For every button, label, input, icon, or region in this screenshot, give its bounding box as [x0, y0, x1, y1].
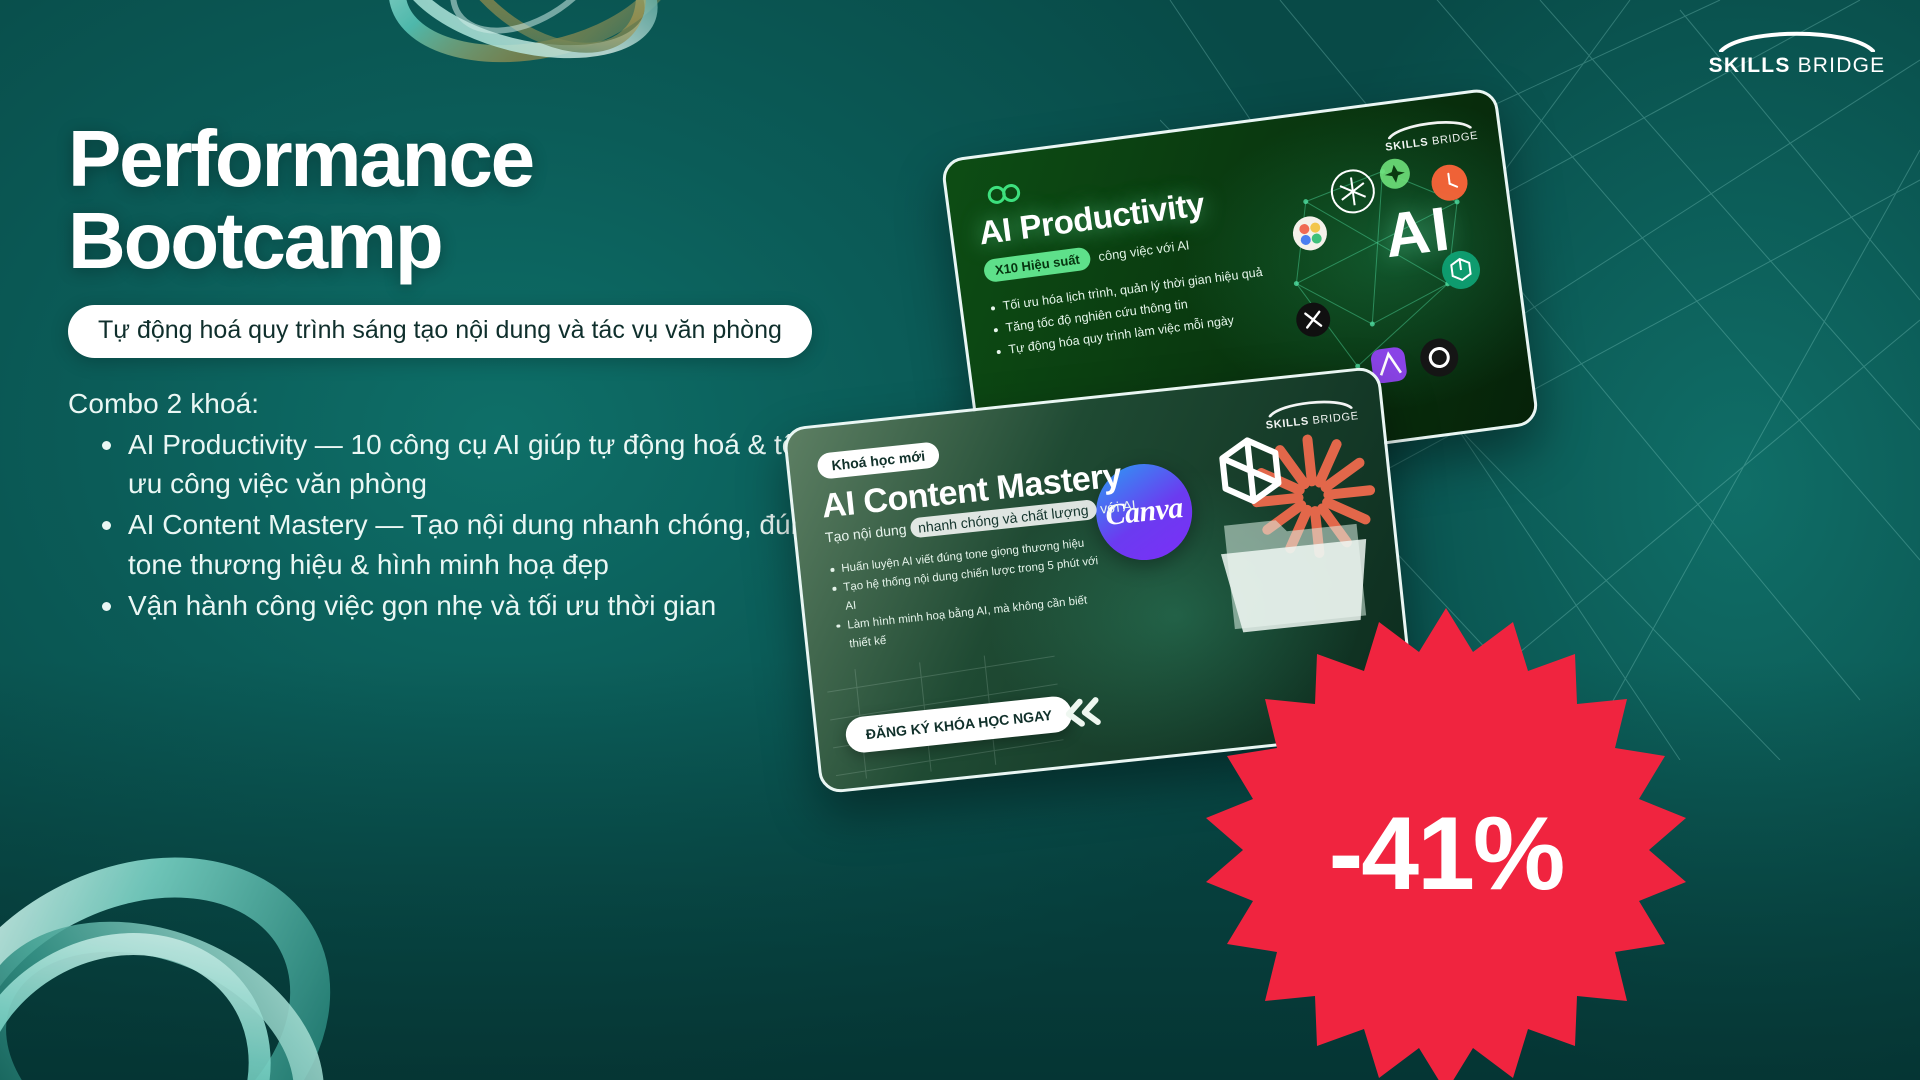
card-subtitle-suffix: với AI	[1099, 497, 1136, 517]
brand-logo: SKILLS BRIDGE	[1708, 26, 1886, 78]
glass-torus-top-decoration	[330, 0, 750, 130]
list-item: Vận hành công việc gọn nhẹ và tối ưu thờ…	[92, 586, 832, 625]
discount-badge: -41%	[1196, 600, 1696, 1080]
discount-value: -41%	[1196, 600, 1696, 1080]
headline-line-2: Bootcamp	[68, 200, 533, 282]
arch-icon	[1717, 26, 1877, 52]
feature-list: AI Productivity — 10 công cụ AI giúp tự …	[92, 425, 832, 627]
infinity-icon	[972, 176, 1027, 213]
glass-torus-bottom-decoration	[0, 780, 440, 1080]
brand-name: SKILLS BRIDGE	[1708, 54, 1886, 78]
list-item: AI Content Mastery — Tạo nội dung nhanh …	[92, 505, 832, 583]
status-badge: X10 Hiệu suất	[983, 246, 1092, 283]
page-title: Performance Bootcamp	[68, 118, 533, 283]
subtitle-pill: Tự động hoá quy trình sáng tạo nội dung …	[68, 305, 812, 358]
headline-line-1: Performance	[68, 114, 533, 203]
list-item: AI Productivity — 10 công cụ AI giúp tự …	[92, 425, 832, 503]
brand-name-bold: SKILLS	[1709, 54, 1791, 77]
poster-canvas: SKILLS BRIDGE Performance Bootcamp Tự độ…	[0, 0, 1920, 1080]
new-course-badge: Khoá học mới	[816, 441, 940, 480]
card-subtitle-prefix: Tạo nội dung	[824, 521, 907, 545]
brand-name-light: BRIDGE	[1798, 54, 1886, 77]
card-feature-list: Huấn luyện AI viết đúng tone giọng thươn…	[828, 533, 1106, 656]
combo-label: Combo 2 khoá:	[68, 388, 259, 420]
badge-note: công việc với AI	[1097, 237, 1190, 264]
double-chevron-left-icon	[1059, 696, 1104, 730]
